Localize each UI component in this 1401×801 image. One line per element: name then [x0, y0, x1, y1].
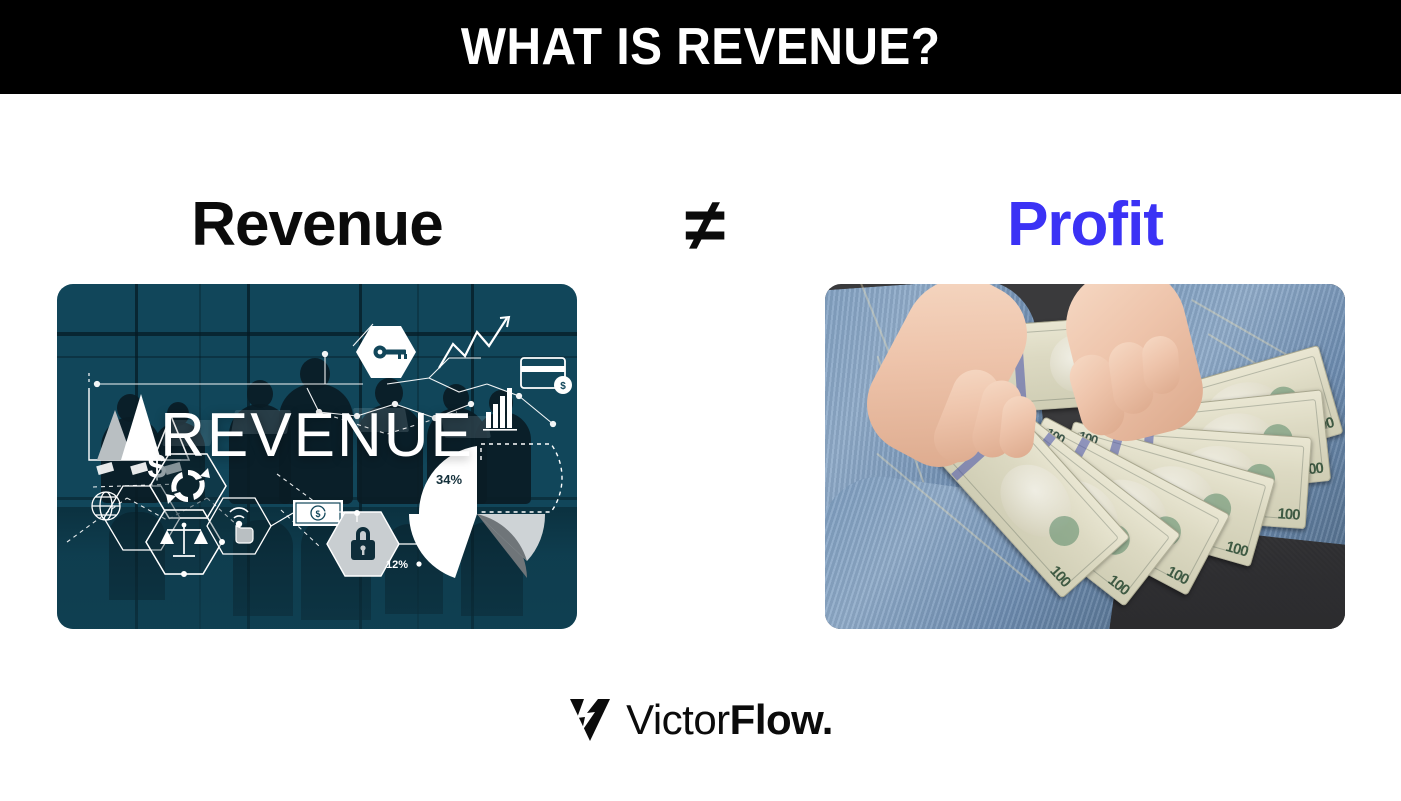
- key-hexagon-icon: [356, 326, 416, 378]
- svg-text:$: $: [315, 509, 320, 519]
- pie-label-12: 12%: [386, 559, 408, 571]
- header-bar: WHAT IS REVENUE?: [0, 0, 1401, 94]
- profit-image-card: 100 100 100 100 100 100 100 100 100 100 …: [825, 284, 1345, 629]
- brand-name: VictorFlow.: [626, 696, 833, 744]
- banknote-dollar-icon: $: [293, 500, 343, 526]
- credit-card-dollar-icon: $: [521, 358, 572, 394]
- svg-text:$: $: [560, 381, 566, 392]
- revenue-heading: Revenue: [57, 175, 577, 275]
- not-equal-sign-icon: ≠: [640, 175, 770, 275]
- footer-logo[interactable]: VictorFlow.: [0, 696, 1401, 744]
- victorflow-triangle-mark: [568, 697, 612, 743]
- revenue-overlay-word: REVENUE: [57, 400, 577, 471]
- profit-heading: Profit: [825, 175, 1345, 275]
- comparison-headings: Revenue ≠ Profit: [0, 175, 1401, 275]
- pie-label-34: 34%: [436, 472, 462, 487]
- line-chart-arrow-icon: [439, 317, 509, 368]
- page-title: WHAT IS REVENUE?: [461, 17, 941, 77]
- brand-bold: Flow.: [730, 696, 833, 743]
- revenue-image-card: $ $: [57, 284, 577, 629]
- brand-light: Victor: [626, 696, 730, 743]
